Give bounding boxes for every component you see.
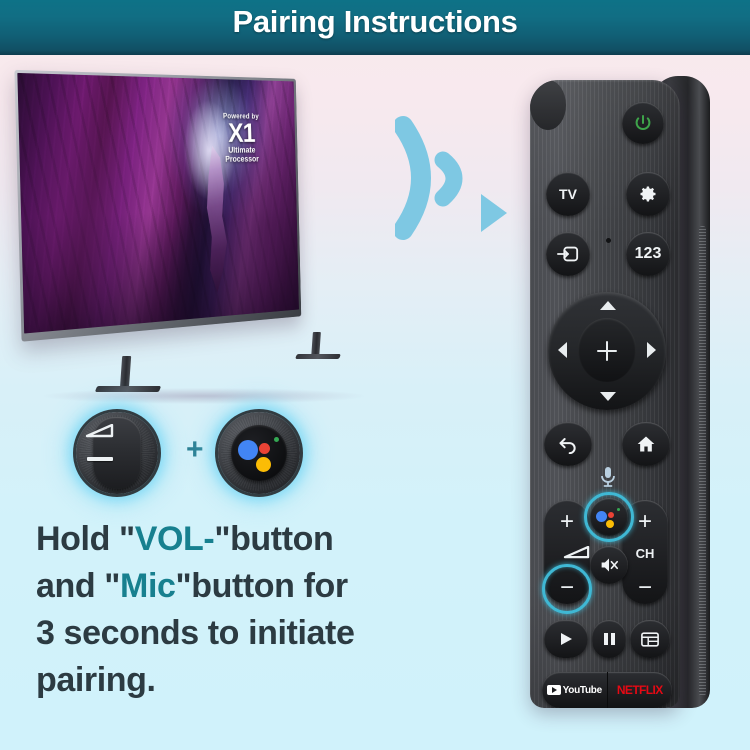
dpad-up-icon[interactable]: [600, 301, 616, 310]
television-illustration: Powered by X1 Ultimate Processor: [18, 70, 378, 370]
pause-icon: [602, 631, 616, 647]
line1-highlight: VOL-: [135, 520, 215, 558]
volume-minus-icon: [87, 457, 113, 461]
channel-label: CH: [622, 546, 668, 561]
remote-face: TV 123: [530, 80, 680, 708]
netflix-button[interactable]: NETFLIX: [608, 672, 673, 708]
instruction-line-3: 3 seconds to initiate: [36, 610, 456, 657]
gear-icon: [638, 184, 658, 204]
home-icon: [636, 434, 656, 454]
instruction-line-1: Hold "VOL-"button: [36, 516, 456, 563]
tv-button[interactable]: TV: [546, 172, 590, 216]
tv-foot-right: [295, 354, 341, 359]
guide-button[interactable]: [630, 620, 670, 658]
header-bottom-shade: [0, 50, 750, 55]
youtube-button[interactable]: YouTube: [542, 672, 607, 708]
instruction-text: Hold "VOL-"button and "Mic"button for 3 …: [36, 516, 456, 704]
dpad-center-cross-icon: [596, 340, 618, 362]
pairing-instructions-page: Pairing Instructions Powered by X1 Ultim…: [0, 0, 750, 750]
input-icon: [557, 245, 579, 263]
wifi-waves-icon: [395, 108, 525, 248]
line2-pre: and ": [36, 567, 120, 605]
volume-triangle-icon: [85, 424, 115, 438]
google-assistant-button-graphic[interactable]: [218, 412, 300, 494]
channel-down-label[interactable]: −: [622, 576, 668, 600]
assistant-dot-green: [274, 437, 279, 442]
settings-button[interactable]: [626, 172, 670, 216]
home-button[interactable]: [622, 422, 670, 466]
button-combination-graphic: +: [70, 404, 320, 504]
tv-screen: Powered by X1 Ultimate Processor: [17, 73, 299, 334]
remote-control: TV 123: [512, 60, 712, 720]
tv-stand-left: [120, 356, 131, 390]
volume-down-highlight-ring: [542, 564, 592, 614]
badge-line2: Processor: [199, 155, 283, 164]
assistant-dot-red: [259, 443, 270, 454]
back-button[interactable]: [544, 422, 592, 466]
line2-highlight: Mic: [120, 567, 175, 605]
mute-icon: [599, 556, 619, 574]
power-button[interactable]: [622, 102, 664, 144]
unlabeled-oval-button[interactable]: [530, 80, 566, 130]
microphone-icon: [600, 466, 616, 488]
play-icon: [558, 631, 574, 647]
instruction-line-2: and "Mic"button for: [36, 563, 456, 610]
tv-body: Powered by X1 Ultimate Processor: [14, 70, 301, 342]
volume-up-label[interactable]: +: [544, 510, 590, 534]
microphone-hole: [606, 238, 611, 243]
youtube-label: YouTube: [563, 685, 602, 696]
numeric-keypad-button[interactable]: 123: [626, 232, 670, 276]
pause-button[interactable]: [592, 620, 626, 658]
line2-post: "button for: [176, 567, 348, 605]
input-source-button[interactable]: [546, 232, 590, 276]
page-header: Pairing Instructions: [0, 0, 750, 55]
mute-button[interactable]: [590, 546, 628, 584]
dpad-right-icon[interactable]: [647, 342, 656, 358]
play-button[interactable]: [544, 620, 588, 658]
google-assistant-icon: [231, 425, 287, 481]
tv-foot-left: [95, 386, 161, 392]
assistant-dot-blue: [238, 440, 258, 460]
service-buttons-row-1: YouTube NETFLIX: [542, 672, 672, 708]
volume-down-button-graphic[interactable]: [76, 412, 158, 494]
netflix-label: NETFLIX: [617, 683, 663, 697]
assistant-button-highlight-ring: [584, 492, 634, 542]
power-icon: [633, 113, 653, 133]
assistant-dot-yellow: [256, 457, 271, 472]
dpad-down-icon[interactable]: [600, 392, 616, 401]
badge-model: X1: [198, 119, 283, 148]
back-arrow-icon: [558, 434, 578, 454]
tv-shadow: [44, 388, 364, 404]
instruction-line-4: pairing.: [36, 657, 456, 704]
youtube-play-icon: [547, 685, 561, 695]
line1-post: "button: [214, 520, 333, 558]
guide-icon: [641, 632, 659, 647]
page-title: Pairing Instructions: [0, 4, 750, 40]
dpad-left-icon[interactable]: [558, 342, 567, 358]
dpad-navigation[interactable]: [548, 292, 666, 410]
x1-processor-badge: Powered by X1 Ultimate Processor: [198, 112, 283, 164]
combo-plus-separator: +: [186, 435, 204, 465]
youtube-logo: YouTube: [547, 685, 602, 696]
line1-pre: Hold ": [36, 520, 135, 558]
